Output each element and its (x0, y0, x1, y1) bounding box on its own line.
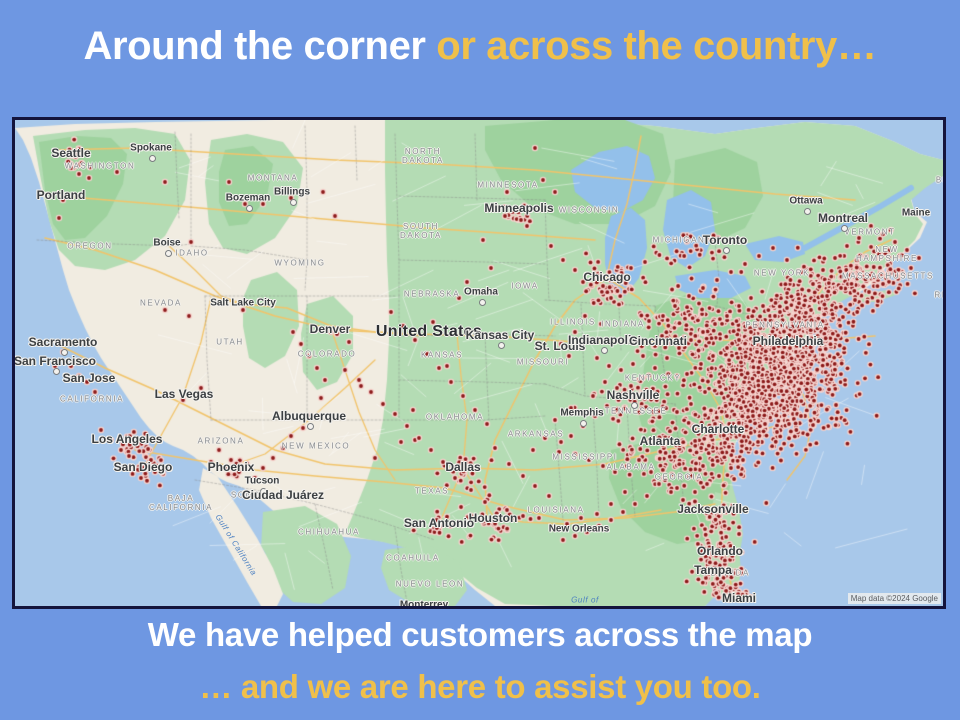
page-title: Around the corner or across the country… (0, 24, 960, 68)
footer-line-1: We have helped customers across the map (0, 616, 960, 654)
map-canvas[interactable] (15, 120, 943, 606)
title-white-part: Around the corner (83, 24, 436, 68)
map-image[interactable]: United StatesWASHINGTONOREGONMONTANAIDAH… (12, 117, 946, 609)
footer-line-2: … and we are here to assist you too. (0, 668, 960, 706)
title-gold-part: or across the country… (436, 24, 876, 68)
slide-root: Around the corner or across the country…… (0, 0, 960, 720)
map-attribution: Map data ©2024 Google (848, 593, 941, 604)
